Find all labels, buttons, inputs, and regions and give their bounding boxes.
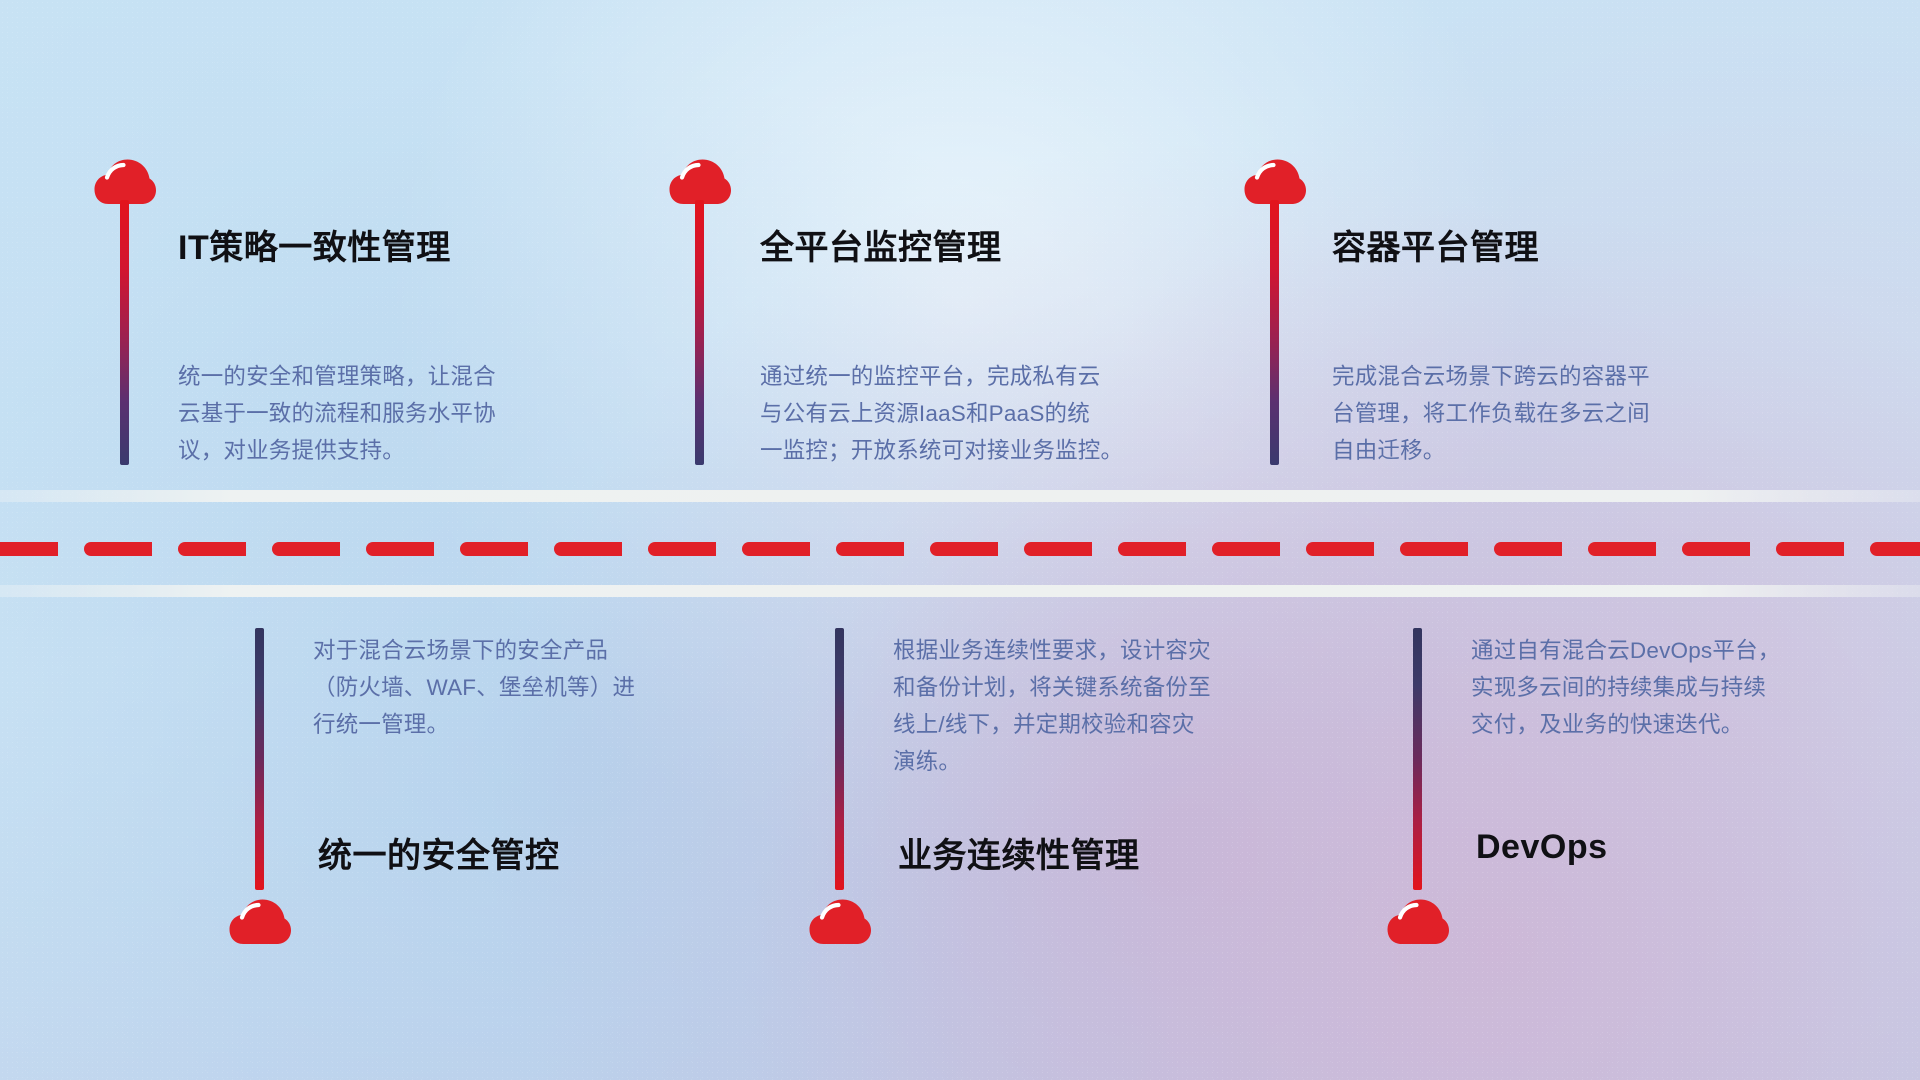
body-line: 台管理，将工作负载在多云之间: [1332, 395, 1650, 432]
card-body: 通过统一的监控平台，完成私有云 与公有云上资源IaaS和PaaS的统 一监控；开…: [760, 358, 1123, 469]
cloud-icon: [1387, 898, 1449, 946]
connector-line: [120, 200, 129, 465]
divider-dash: [1118, 542, 1176, 556]
body-line: 线上/线下，并定期校验和容灾: [893, 706, 1211, 743]
card-body: 统一的安全和管理策略，让混合 云基于一致的流程和服务水平协 议，对业务提供支持。: [178, 358, 496, 469]
card-title: 统一的安全管控: [318, 828, 560, 877]
divider-dash: [930, 542, 988, 556]
divider-dash: [1776, 542, 1834, 556]
card-body: 对于混合云场景下的安全产品 （防火墙、WAF、堡垒机等）进 行统一管理。: [313, 632, 635, 743]
divider-dash: [1588, 542, 1646, 556]
divider-dash: [1212, 542, 1270, 556]
connector-line: [1413, 628, 1422, 890]
body-line: 演练。: [893, 743, 1211, 780]
connector-line: [835, 628, 844, 890]
divider-bar-bottom: [0, 585, 1920, 597]
connector-line: [695, 200, 704, 465]
body-line: 对于混合云场景下的安全产品: [313, 632, 635, 669]
body-line: 与公有云上资源IaaS和PaaS的统: [760, 395, 1123, 432]
body-line: 统一的安全和管理策略，让混合: [178, 358, 496, 395]
card-title: 容器平台管理: [1332, 220, 1539, 269]
body-line: 交付，及业务的快速迭代。: [1471, 706, 1780, 743]
divider-dash: [460, 542, 518, 556]
cloud-icon: [229, 898, 291, 946]
card-body: 完成混合云场景下跨云的容器平 台管理，将工作负载在多云之间 自由迁移。: [1332, 358, 1650, 469]
divider-dash: [366, 542, 424, 556]
divider-dash: [554, 542, 612, 556]
card-body: 通过自有混合云DevOps平台， 实现多云间的持续集成与持续 交付，及业务的快速…: [1471, 632, 1780, 743]
cloud-icon: [1244, 158, 1306, 206]
divider-dash: [1306, 542, 1364, 556]
connector-line: [255, 628, 264, 890]
card-body: 根据业务连续性要求，设计容灾 和备份计划，将关键系统备份至 线上/线下，并定期校…: [893, 632, 1211, 780]
body-line: 完成混合云场景下跨云的容器平: [1332, 358, 1650, 395]
divider-dash: [0, 542, 48, 556]
body-line: 通过自有混合云DevOps平台，: [1471, 632, 1780, 669]
divider-dash: [272, 542, 330, 556]
divider-dash: [836, 542, 894, 556]
divider-dash: [1494, 542, 1552, 556]
divider-dash: [178, 542, 236, 556]
divider-dash: [1400, 542, 1458, 556]
divider-bar-top: [0, 490, 1920, 502]
divider-dash: [648, 542, 706, 556]
card-title: 全平台监控管理: [760, 220, 1002, 269]
divider-dash: [742, 542, 800, 556]
body-line: 一监控；开放系统可对接业务监控。: [760, 432, 1123, 469]
cloud-icon: [94, 158, 156, 206]
card-title: IT策略一致性管理: [178, 220, 451, 269]
infographic-canvas: IT策略一致性管理 统一的安全和管理策略，让混合 云基于一致的流程和服务水平协 …: [0, 0, 1920, 1080]
body-line: 和备份计划，将关键系统备份至: [893, 669, 1211, 706]
body-line: 实现多云间的持续集成与持续: [1471, 669, 1780, 706]
dashed-road-line: [0, 542, 1920, 556]
cloud-icon: [669, 158, 731, 206]
divider-dash: [84, 542, 142, 556]
card-title: 业务连续性管理: [898, 828, 1140, 877]
body-line: 自由迁移。: [1332, 432, 1650, 469]
divider-dash: [1870, 542, 1920, 556]
divider-dash: [1024, 542, 1082, 556]
divider-dash: [1682, 542, 1740, 556]
body-line: 议，对业务提供支持。: [178, 432, 496, 469]
body-line: 云基于一致的流程和服务水平协: [178, 395, 496, 432]
body-line: 行统一管理。: [313, 706, 635, 743]
body-line: 根据业务连续性要求，设计容灾: [893, 632, 1211, 669]
body-line: 通过统一的监控平台，完成私有云: [760, 358, 1123, 395]
connector-line: [1270, 200, 1279, 465]
cloud-icon: [809, 898, 871, 946]
card-title: DevOps: [1476, 828, 1608, 867]
body-line: （防火墙、WAF、堡垒机等）进: [313, 669, 635, 706]
